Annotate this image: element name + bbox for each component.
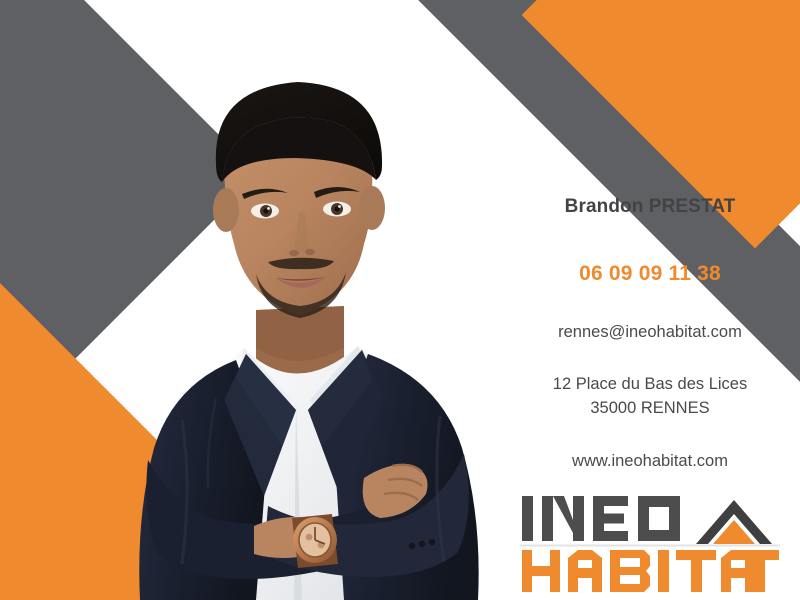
business-card: Brandon PRESTAT 06 09 09 11 38 rennes@in… (0, 0, 800, 600)
logo-divider (520, 545, 780, 547)
logo-wordmark-ineo (522, 496, 680, 541)
ineo-habitat-logo[interactable] (520, 488, 780, 594)
contact-address-line-2: 35000 RENNES (500, 397, 800, 421)
roof-chevron-icon (696, 500, 772, 544)
contact-info-block: Brandon PRESTAT 06 09 09 11 38 rennes@in… (500, 196, 800, 471)
logo-wordmark-habitat (522, 550, 779, 592)
contact-phone[interactable]: 06 09 09 11 38 (500, 261, 800, 286)
contact-address: 12 Place du Bas des Lices 35000 RENNES (500, 373, 800, 421)
portrait-photo (96, 48, 516, 600)
contact-email[interactable]: rennes@ineohabitat.com (500, 323, 800, 343)
contact-address-line-1: 12 Place du Bas des Lices (500, 373, 800, 397)
contact-name: Brandon PRESTAT (500, 196, 800, 219)
contact-website[interactable]: www.ineohabitat.com (500, 452, 800, 472)
